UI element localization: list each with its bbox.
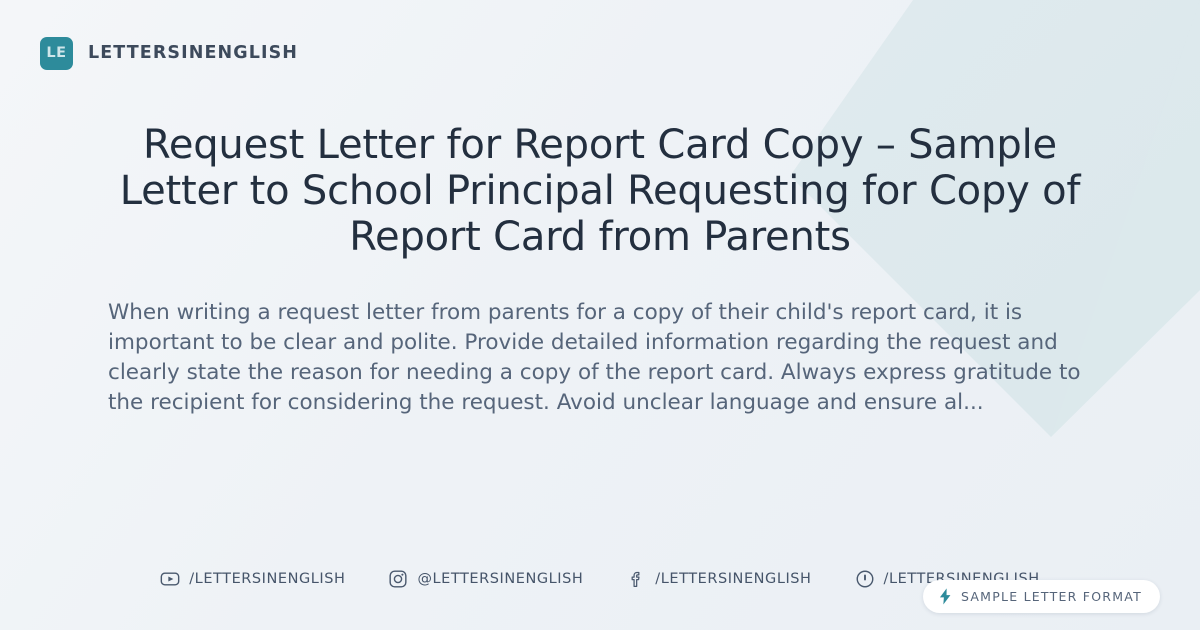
footer: /LETTERSINENGLISH @LETTERSINENGLISH (40, 544, 1160, 630)
article-summary: When writing a request letter from paren… (105, 298, 1095, 419)
lightning-bolt-icon (938, 588, 953, 605)
social-handle-instagram: @LETTERSINENGLISH (417, 571, 583, 587)
brand-logo-initials: LE (46, 46, 66, 61)
article-title: Request Letter for Report Card Copy – Sa… (95, 122, 1105, 261)
social-handle-facebook: /LETTERSINENGLISH (655, 571, 811, 587)
facebook-icon (626, 569, 646, 589)
brand-logo-badge: LE (40, 37, 73, 70)
social-link-youtube[interactable]: /LETTERSINENGLISH (160, 569, 345, 589)
format-badge[interactable]: SAMPLE LETTER FORMAT (923, 580, 1160, 613)
social-handle-youtube: /LETTERSINENGLISH (189, 571, 345, 587)
pinterest-icon (855, 569, 875, 589)
youtube-icon (160, 569, 180, 589)
social-links: /LETTERSINENGLISH @LETTERSINENGLISH (160, 569, 1039, 589)
brand-header: LE LETTERSINENGLISH (40, 36, 1160, 70)
share-card: LE LETTERSINENGLISH Request Letter for R… (0, 0, 1200, 630)
social-link-instagram[interactable]: @LETTERSINENGLISH (388, 569, 583, 589)
instagram-icon (388, 569, 408, 589)
article-content: Request Letter for Report Card Copy – Sa… (40, 70, 1160, 544)
social-link-facebook[interactable]: /LETTERSINENGLISH (626, 569, 811, 589)
brand-name: LETTERSINENGLISH (88, 43, 298, 63)
format-badge-label: SAMPLE LETTER FORMAT (961, 589, 1142, 604)
